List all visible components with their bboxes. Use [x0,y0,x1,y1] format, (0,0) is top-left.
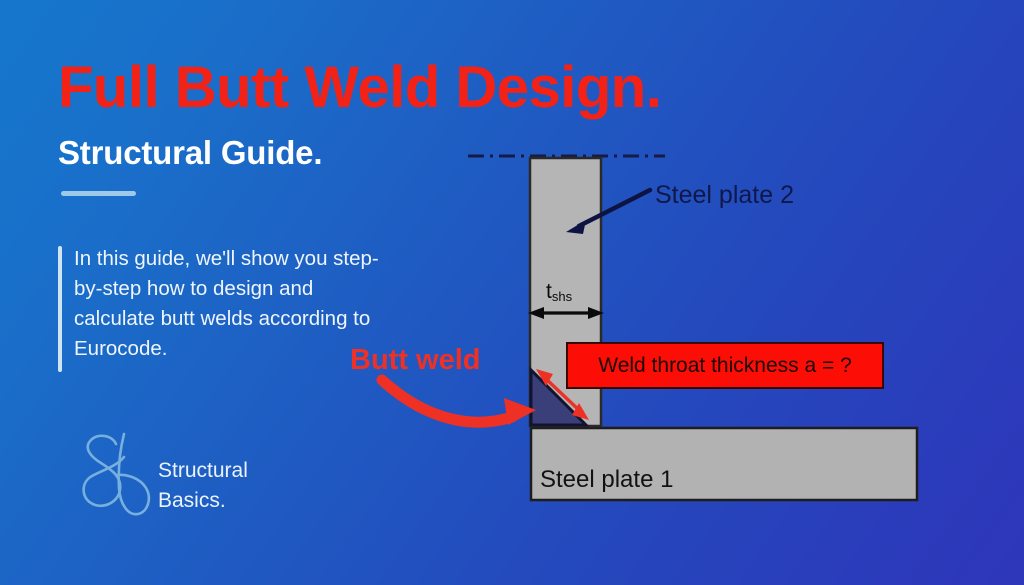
thickness-symbol-subscript: shs [552,289,572,304]
butt-weld-pointer-arrow [382,380,536,425]
weld-throat-callout-text: Weld throat thickness a = ? [598,354,852,378]
thickness-symbol-base: t [546,280,552,303]
butt-weld-diagram [0,0,1024,585]
steel-plate-2-label: Steel plate 2 [655,181,794,210]
infographic-canvas: Full Butt Weld Design. Structural Guide.… [0,0,1024,585]
steel-plate-1-label: Steel plate 1 [540,466,673,494]
butt-weld-label: Butt weld [350,344,481,377]
weld-throat-callout: Weld throat thickness a = ? [566,342,884,389]
thickness-symbol-label: tshs [546,280,572,304]
